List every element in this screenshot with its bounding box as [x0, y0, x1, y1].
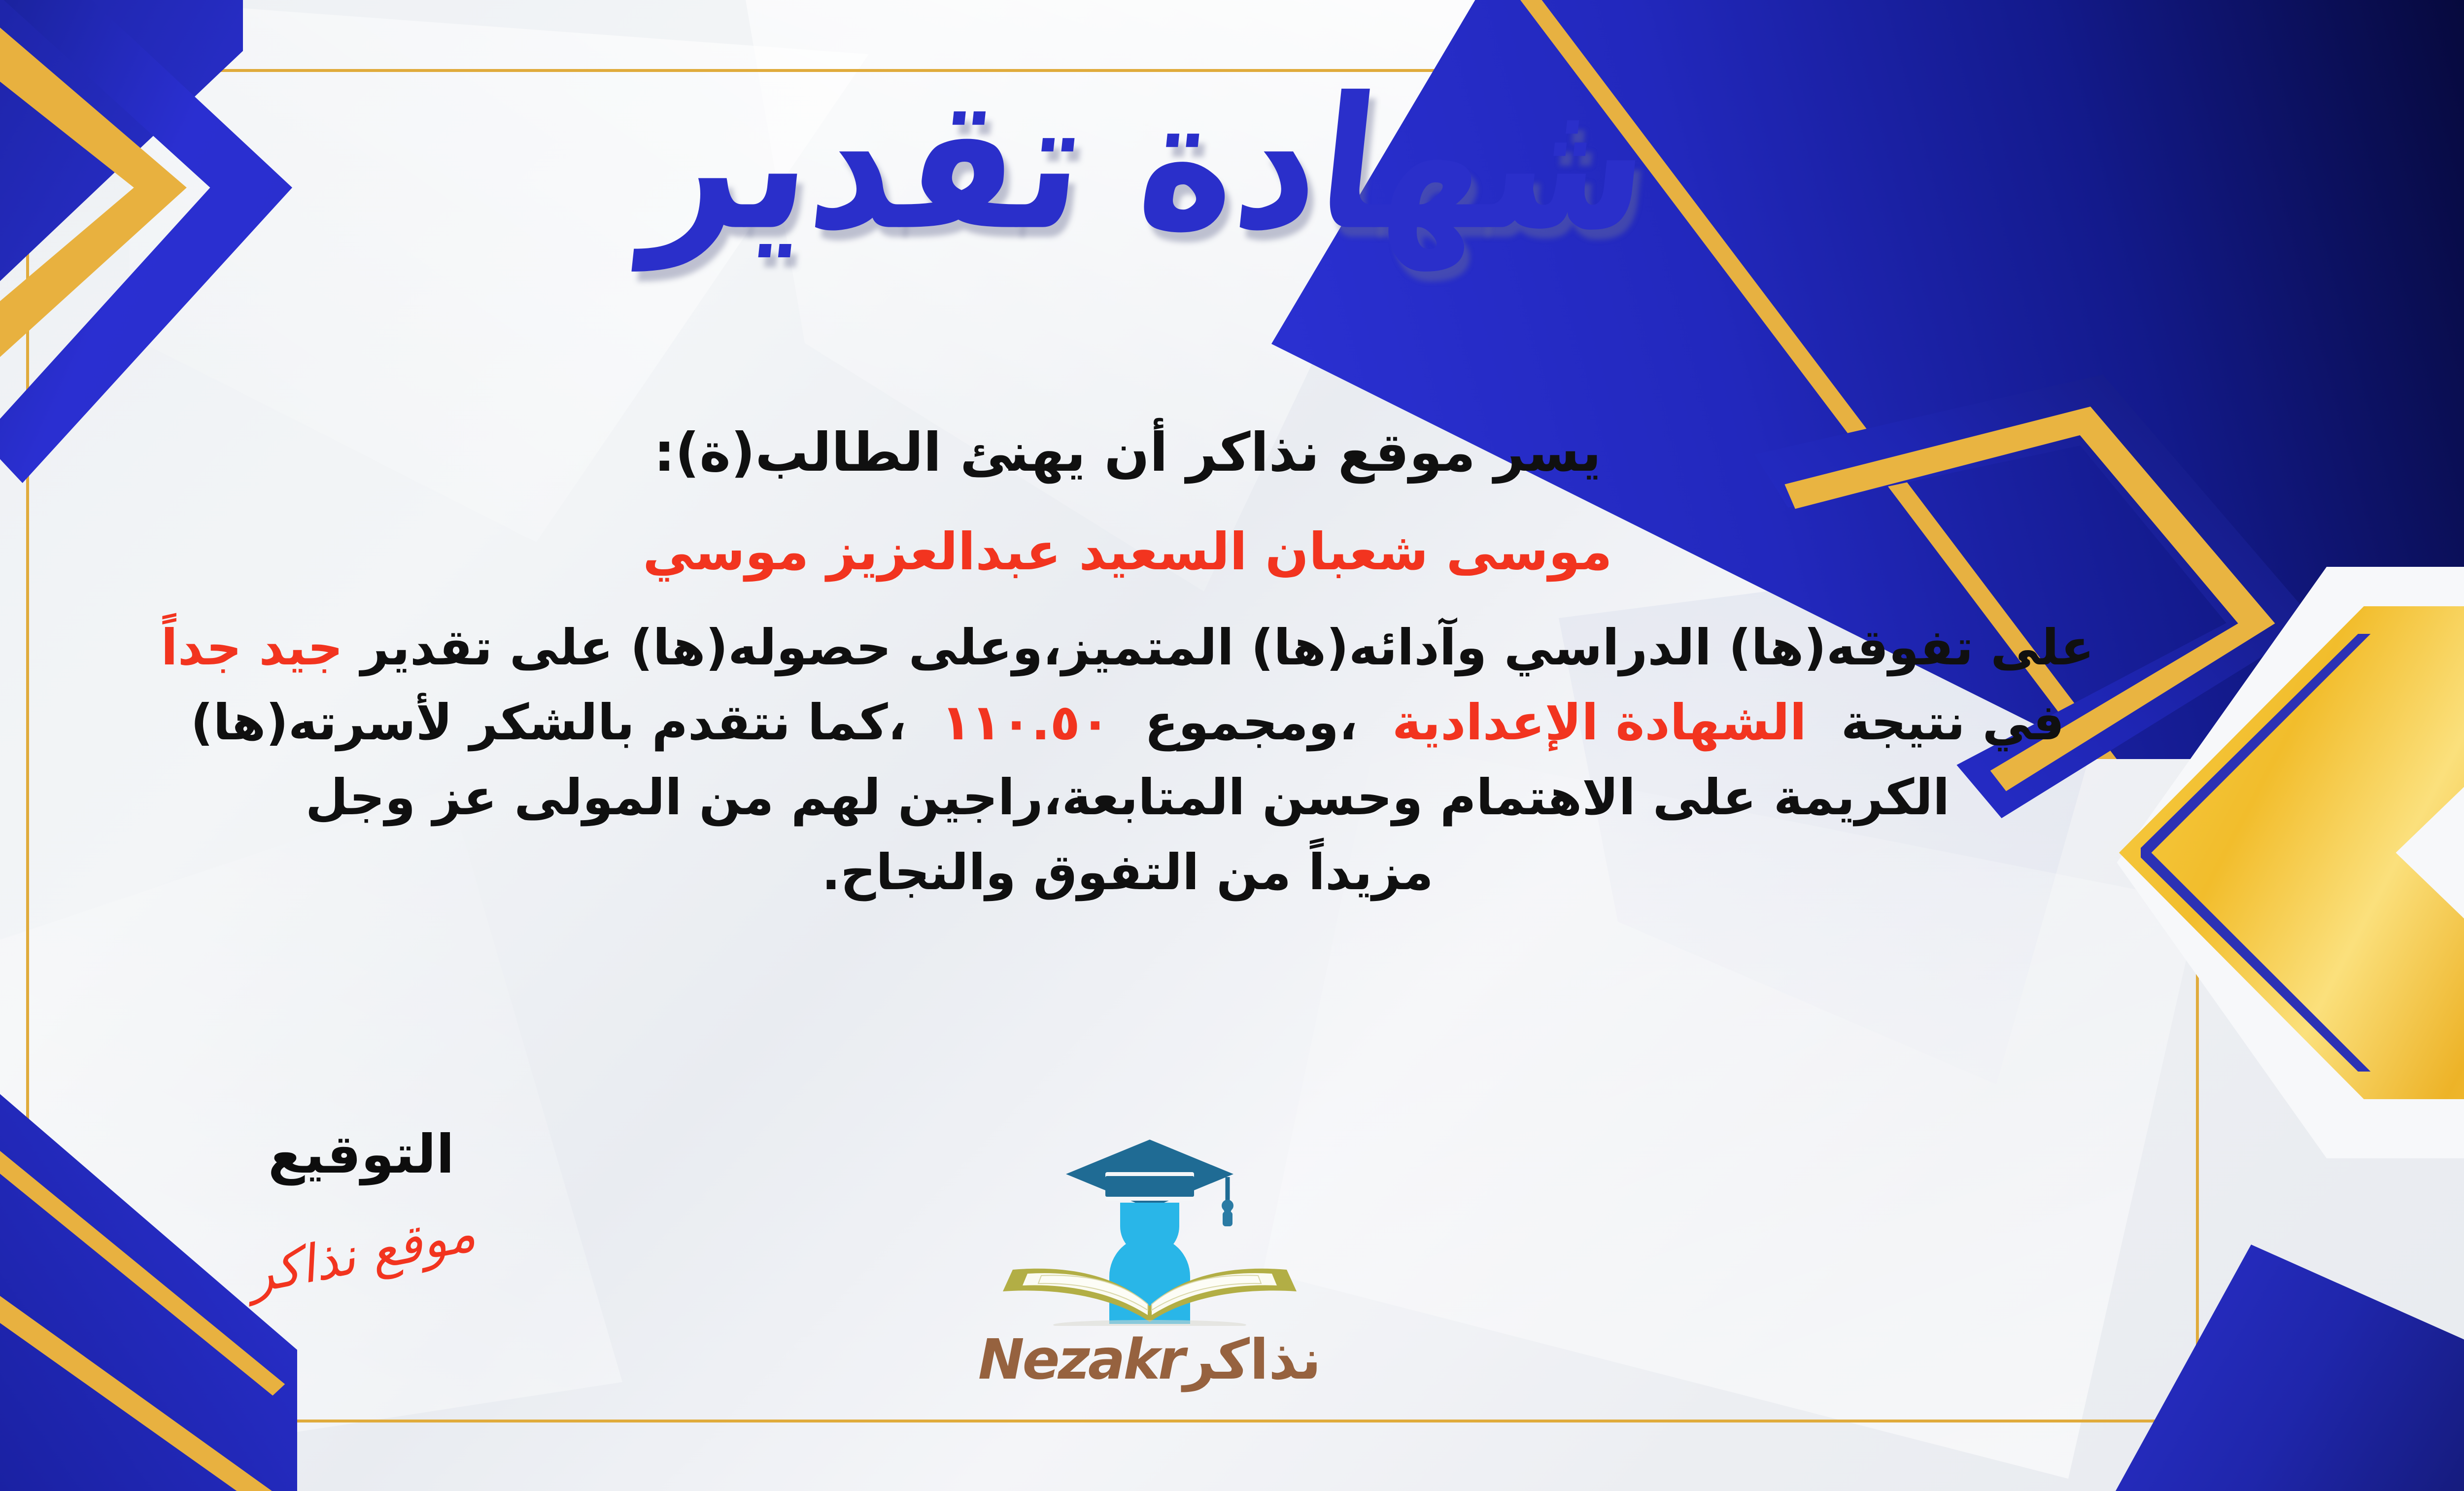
- signature-block: التوقيع موقع نذاكر: [139, 1124, 583, 1284]
- signature-label: التوقيع: [139, 1124, 583, 1185]
- logo-latin-text: Nezakr: [978, 1328, 1183, 1392]
- logo-wordmark: نذاكرNezakr: [958, 1328, 1342, 1392]
- total-score: ١١٠.٥٠: [941, 693, 1110, 751]
- exam-prefix: في نتيجة: [1841, 693, 2064, 751]
- student-name: موسى شعبان السعيد عبدالعزيز موسي: [61, 515, 2194, 589]
- logo-arabic-text: نذاكر: [1183, 1328, 1321, 1392]
- grade-value: جيد جداً: [161, 619, 343, 676]
- certificate-paragraph: على تفوقه(ها) الدراسي وآدائه(ها) المتميز…: [61, 610, 2194, 910]
- logo-mark: [958, 1129, 1342, 1326]
- frame-border-bottom: [26, 1420, 2194, 1422]
- certificate-page: شهادة تقدير يسر موقع نذاكر أن يهنئ الطال…: [0, 0, 2464, 1491]
- site-logo: نذاكرNezakr: [958, 1129, 1342, 1392]
- certificate-title: شهادة تقدير: [0, 79, 2464, 250]
- exam-name: الشهادة الإعدادية: [1392, 693, 1807, 751]
- total-prefix: ،ومجموع: [1145, 693, 1358, 751]
- handwritten-signature: موقع نذاكر: [242, 1203, 480, 1306]
- paragraph-line-4: مزيداً من التفوق والنجاح.: [61, 835, 2194, 910]
- logo-graphic: [958, 1129, 1342, 1326]
- paragraph-line-1: على تفوقه(ها) الدراسي وآدائه(ها) المتميز…: [61, 610, 2194, 685]
- congratulation-lead: يسر موقع نذاكر أن يهنئ الطالب(ة):: [61, 414, 2194, 492]
- certificate-title-text: شهادة تقدير: [640, 69, 1658, 260]
- achievement-text: على تفوقه(ها) الدراسي وآدائه(ها) المتميز…: [361, 619, 2094, 676]
- paragraph-line-3: الكريمة على الاهتمام وحسن المتابعة،راجين…: [61, 760, 2194, 835]
- certificate-body: يسر موقع نذاكر أن يهنئ الطالب(ة): موسى ش…: [61, 414, 2194, 910]
- corner-ornament-bottom-right: [2045, 1245, 2464, 1491]
- thanks-text: ،كما نتقدم بالشكر لأسرته(ها): [191, 693, 907, 751]
- paragraph-line-2: في نتيجةالشهادة الإعدادية،ومجموع١١٠.٥٠،ك…: [61, 685, 2194, 760]
